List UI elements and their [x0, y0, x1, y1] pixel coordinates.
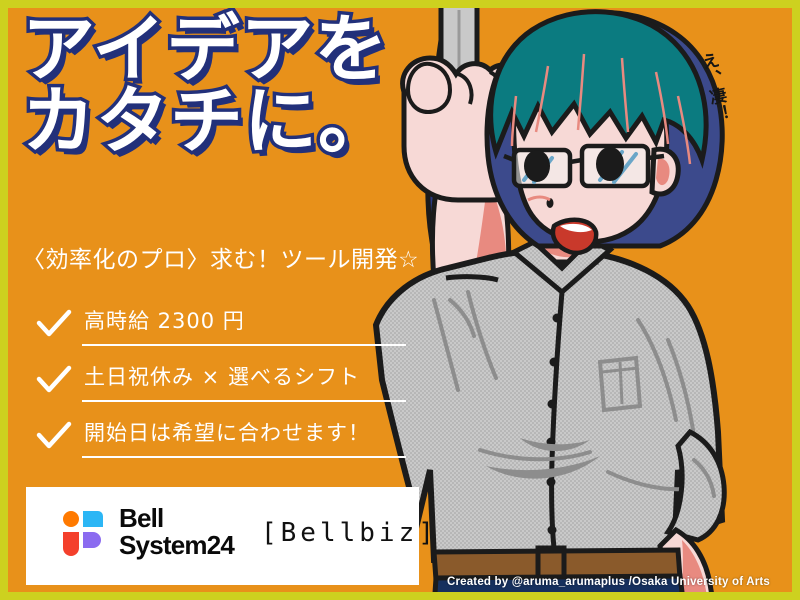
headline-line-2: カタチに。	[22, 86, 442, 158]
brand-name: Bell System24	[119, 505, 234, 558]
list-item-divider	[82, 456, 406, 458]
brand-name-line-1: Bell	[119, 505, 234, 532]
list-item-label: 開始日は希望に合わせます！	[84, 417, 370, 447]
right-eye	[596, 147, 624, 181]
check-icon	[36, 309, 72, 339]
service-name: [Bellbiz]	[261, 518, 438, 548]
logo-panel: Bell System24 [Bellbiz]	[26, 487, 419, 585]
headline-line-1: アイデアを	[22, 14, 442, 86]
left-eye	[524, 150, 550, 182]
check-icon	[36, 365, 72, 395]
brand-name-line-2: System24	[119, 532, 234, 559]
list-item-label: 高時給 2300 円	[84, 305, 245, 335]
list-item: 高時給 2300 円	[36, 303, 416, 359]
list-item-divider	[82, 344, 406, 346]
list-item-label: 土日祝休み × 選べるシフト	[84, 361, 360, 391]
bell-system-24-logo-icon	[62, 510, 110, 558]
credit-text: Created by @aruma_arumaplus /Osaka Unive…	[447, 576, 770, 588]
subheadline: 〈効率化のプロ〉求む！ツール開発☆	[22, 240, 452, 274]
list-item: 開始日は希望に合わせます！	[36, 415, 416, 471]
page-title: アイデアをカタチに。	[22, 14, 442, 157]
benefits-list: 高時給 2300 円 土日祝休み × 選べるシフト 開始日は希望に合わせます！	[36, 303, 416, 471]
poster-root: え、凄！ アイデアをカタチに。 〈効率化のプロ〉求む！ツール開発☆ 高時給 23…	[0, 0, 800, 600]
list-item-divider	[82, 400, 406, 402]
poster-background: え、凄！ アイデアをカタチに。 〈効率化のプロ〉求む！ツール開発☆ 高時給 23…	[8, 8, 792, 592]
list-item: 土日祝休み × 選べるシフト	[36, 359, 416, 415]
check-icon	[36, 421, 72, 451]
